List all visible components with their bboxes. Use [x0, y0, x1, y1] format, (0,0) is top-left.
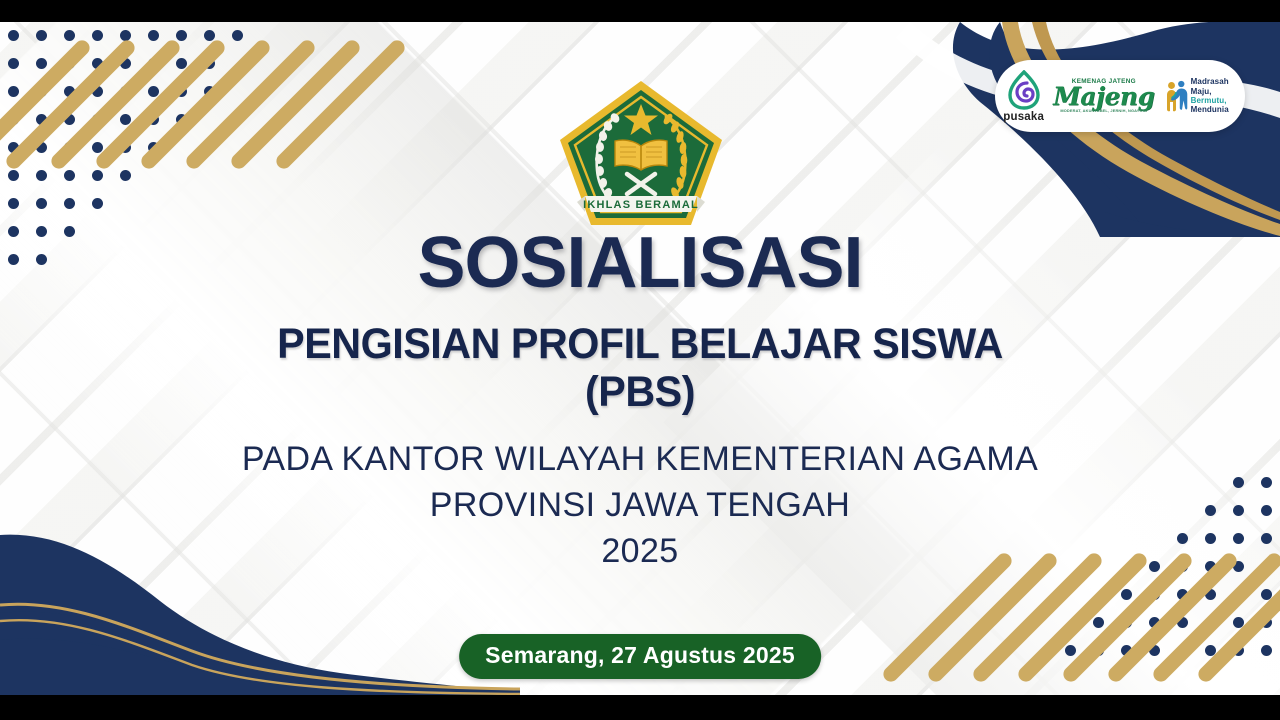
- presentation-slide: IKHLAS BERAMAL pusaka KEMENAG JATENG Maj…: [0, 22, 1280, 695]
- body-line-1: PADA KANTOR WILAYAH KEMENTERIAN AGAMA: [0, 437, 1280, 483]
- body-block: PADA KANTOR WILAYAH KEMENTERIAN AGAMA PR…: [0, 437, 1280, 575]
- madrasah-line-2: Bermutu,: [1191, 96, 1227, 105]
- majeng-logo: KEMENAG JATENG Majeng MODERAT, AKUNTABEL…: [1053, 79, 1154, 113]
- logo-badge: pusaka KEMENAG JATENG Majeng MODERAT, AK…: [995, 60, 1245, 132]
- madrasah-people-icon: [1164, 74, 1188, 118]
- madrasah-line-3: Mendunia: [1191, 105, 1229, 114]
- kemenag-logo: IKHLAS BERAMAL: [555, 78, 727, 228]
- majeng-tagline: MODERAT, AKUNTABEL, JERNIH, NGAYOMI: [1060, 109, 1147, 113]
- body-line-2: PROVINSI JAWA TENGAH: [0, 483, 1280, 529]
- subtitle-line-1: PENGISIAN PROFIL BELAJAR SISWA: [26, 320, 1255, 368]
- pusaka-logo: pusaka: [1003, 70, 1044, 123]
- pusaka-droplet-icon: [1007, 70, 1041, 110]
- slide-stage: IKHLAS BERAMAL pusaka KEMENAG JATENG Maj…: [0, 0, 1280, 720]
- main-title: SOSIALISASI: [0, 222, 1280, 304]
- letterbox-top: [0, 0, 1280, 22]
- date-badge: Semarang, 27 Agustus 2025: [459, 634, 821, 679]
- kemenag-ribbon-text: IKHLAS BERAMAL: [583, 199, 699, 211]
- decoration-stripes-top-left: [0, 22, 380, 252]
- madrasah-logo: Madrasah Maju, Bermutu, Mendunia: [1164, 74, 1237, 118]
- subtitle-line-2: (PBS): [26, 368, 1255, 416]
- majeng-wordmark: Majeng: [1053, 85, 1154, 108]
- letterbox-bottom: [0, 695, 1280, 720]
- subtitle-block: PENGISIAN PROFIL BELAJAR SISWA (PBS): [26, 320, 1255, 416]
- body-line-3: 2025: [0, 529, 1280, 575]
- madrasah-line-1: Madrasah Maju,: [1191, 77, 1237, 96]
- pusaka-label: pusaka: [1003, 111, 1044, 123]
